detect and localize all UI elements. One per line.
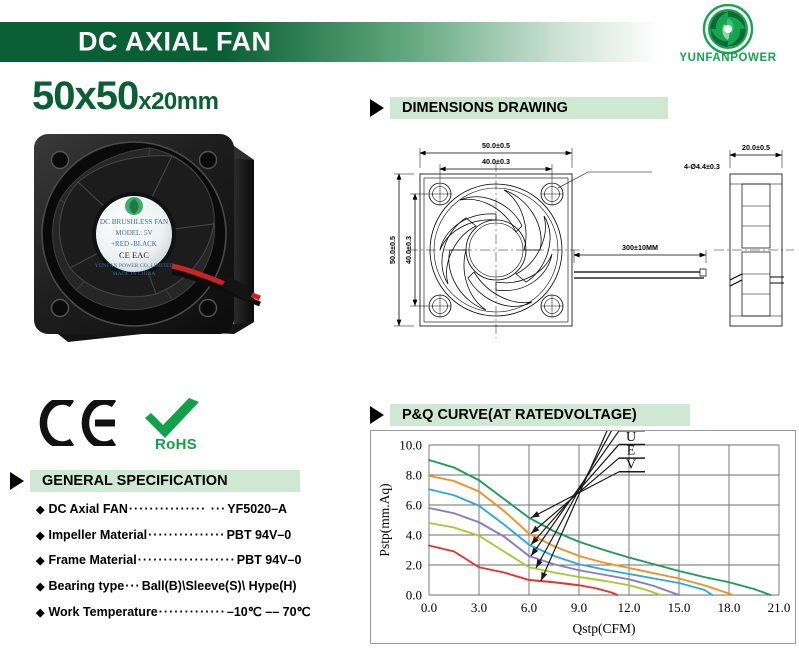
pq-curve-chart: VEUHML 0.03.06.09.012.015.018.021.00.02.… <box>370 430 796 644</box>
rohs-mark: RoHS <box>136 398 216 456</box>
datasheet-page: DC AXIAL FAN 50x50x20mm YUNFANPOWER <box>0 0 799 653</box>
legend-label-E: E <box>627 444 636 459</box>
y-tick: 6.0 <box>406 498 422 513</box>
svg-text:MODEL: 5V: MODEL: 5V <box>115 229 152 237</box>
spec-dots: ············· <box>159 605 226 619</box>
section-title-dimensions: DIMENSIONS DRAWING <box>402 100 568 116</box>
dim-wire-length: 300±10MM <box>622 243 658 252</box>
dim-front-height: 50.0±0.5 <box>388 236 397 264</box>
spec-key: Impeller Material <box>48 528 147 542</box>
list-item: ◆ Frame Material ··················· PBT… <box>36 553 366 567</box>
spec-value: PBT 94V–0 <box>237 553 302 567</box>
chart-gridlines <box>429 445 779 595</box>
legend-label-U: U <box>626 431 636 445</box>
spec-value: PBT 94V–0 <box>227 528 292 542</box>
list-item: ◆ Work Temperature ············· –10℃ ––… <box>36 604 366 619</box>
x-tick: 3.0 <box>471 600 487 615</box>
svg-text:MADE IN CHINA: MADE IN CHINA <box>113 271 156 277</box>
spec-value: Ball(B)\Sleeve(S)\ Hype(H) <box>142 579 297 593</box>
page-title: DC AXIAL FAN <box>78 27 272 58</box>
dim-hole-pitch-vertical: 40.0±0.3 <box>404 236 413 264</box>
diamond-bullet-icon: ◆ <box>36 554 44 567</box>
spec-key: Bearing type <box>48 579 124 593</box>
dim-hole-pitch-horizontal: 40.0±0.3 <box>482 157 510 166</box>
x-tick: 18.0 <box>718 600 741 615</box>
spec-dots: ··············· ··· <box>129 502 226 516</box>
rohs-label: RoHS <box>136 436 216 453</box>
x-axis-label: Qstp(CFM) <box>572 621 635 636</box>
brand-logo: YUNFANPOWER <box>676 4 780 70</box>
specification-list: ◆ DC Axial FAN ··············· ··· YF502… <box>36 502 366 631</box>
product-size-main: 50x50 <box>32 74 138 118</box>
diamond-bullet-icon: ◆ <box>36 503 44 516</box>
triangle-marker-icon <box>370 406 384 424</box>
triangle-marker-icon <box>370 99 384 117</box>
spec-key: Frame Material <box>48 553 136 567</box>
dim-side-thickness: 20.0±0.5 <box>742 143 770 152</box>
legend-label-V: V <box>626 457 636 472</box>
diamond-bullet-icon: ◆ <box>36 529 44 542</box>
y-tick: 0.0 <box>406 588 422 603</box>
spec-value: YF5020–A <box>227 502 287 516</box>
certification-marks: RoHS <box>38 398 218 460</box>
dimensions-drawing: 50.0±0.5 40.0±0.3 50.0±0.5 40.0±0.3 4-Ø4… <box>370 122 794 362</box>
section-title-general: GENERAL SPECIFICATION <box>42 473 228 489</box>
svg-text:CE EAC: CE EAC <box>119 250 149 260</box>
fan-swirl-logo-icon <box>702 4 754 54</box>
list-item: ◆ DC Axial FAN ··············· ··· YF502… <box>36 502 366 516</box>
y-tick: 4.0 <box>406 528 422 543</box>
svg-text:+RED -BLACK: +RED -BLACK <box>111 240 157 248</box>
diamond-bullet-icon: ◆ <box>36 580 44 593</box>
spec-dots: ··············· <box>148 528 225 542</box>
x-tick: 0.0 <box>421 600 437 615</box>
y-axis-label: Pstp(mm.Aq) <box>377 483 392 556</box>
x-tick: 15.0 <box>668 600 691 615</box>
ce-mark-icon <box>38 400 120 451</box>
page-title-bar: DC AXIAL FAN <box>0 22 660 62</box>
spec-dots: ··················· <box>138 553 236 567</box>
spec-key: Work Temperature <box>48 605 157 619</box>
x-tick: 12.0 <box>618 600 641 615</box>
curve-L <box>429 546 617 596</box>
dim-front-width: 50.0±0.5 <box>482 141 510 150</box>
product-photo: DC BRUSHLESS FAN MODEL: 5V +RED -BLACK C… <box>22 126 342 371</box>
curve-M <box>429 523 661 595</box>
x-tick: 6.0 <box>521 600 537 615</box>
dim-hole-spec: 4-Ø4.4±0.3 <box>684 162 720 171</box>
list-item: ◆ Impeller Material ··············· PBT … <box>36 528 366 542</box>
product-size-suffix: x20mm <box>138 88 218 115</box>
spec-value: –10℃ –– 70℃ <box>227 604 311 619</box>
list-item: ◆ Bearing type ··· Ball(B)\Sleeve(S)\ Hy… <box>36 579 366 593</box>
chart-series <box>429 460 771 595</box>
y-tick: 2.0 <box>406 558 422 573</box>
x-tick: 9.0 <box>571 600 587 615</box>
triangle-marker-icon <box>10 472 24 490</box>
spec-key: DC Axial FAN <box>48 502 127 516</box>
product-size: 50x50x20mm <box>32 74 218 119</box>
svg-text:DC BRUSHLESS FAN: DC BRUSHLESS FAN <box>100 218 169 226</box>
y-tick: 10.0 <box>399 438 422 453</box>
x-tick: 21.0 <box>768 600 791 615</box>
y-tick: 8.0 <box>406 468 422 483</box>
brand-name: YUNFANPOWER <box>676 52 780 64</box>
svg-text:YUNFAN POWER CO.,LIMITED: YUNFAN POWER CO.,LIMITED <box>95 263 174 269</box>
diamond-bullet-icon: ◆ <box>36 606 44 619</box>
spec-dots: ··· <box>125 579 141 593</box>
section-title-pq: P&Q CURVE(AT RATEDVOLTAGE) <box>402 407 637 423</box>
